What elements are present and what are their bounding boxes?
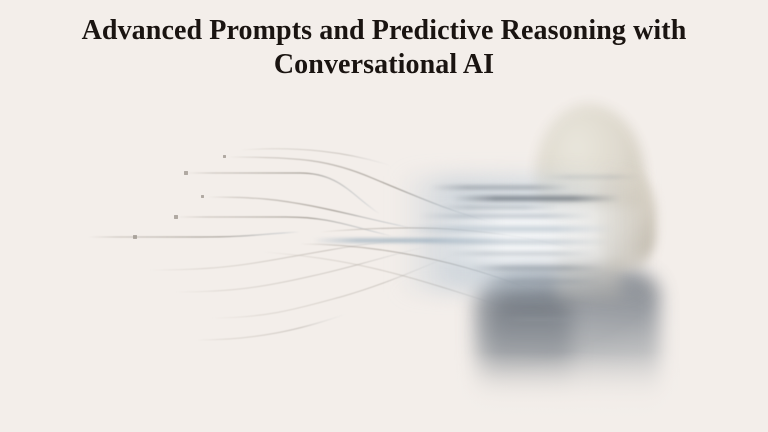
title-line-2: Conversational AI xyxy=(0,48,768,82)
network-path xyxy=(176,246,430,292)
network-paths xyxy=(88,157,590,296)
network-node xyxy=(174,215,178,219)
network-path xyxy=(150,240,404,270)
network-paths-soft xyxy=(150,149,520,340)
network-node xyxy=(133,235,137,239)
network-node xyxy=(184,171,188,175)
network-node xyxy=(223,155,226,158)
page-title: Advanced Prompts and Predictive Reasonin… xyxy=(0,14,768,82)
network-path xyxy=(208,197,412,228)
network-path xyxy=(228,157,498,224)
slide-canvas: Advanced Prompts and Predictive Reasonin… xyxy=(0,0,768,432)
accent-band xyxy=(312,238,562,243)
network-node xyxy=(201,195,204,198)
network-path xyxy=(262,252,520,312)
network-path xyxy=(88,232,300,237)
network-path xyxy=(186,173,380,214)
title-line-1: Advanced Prompts and Predictive Reasonin… xyxy=(0,14,768,48)
